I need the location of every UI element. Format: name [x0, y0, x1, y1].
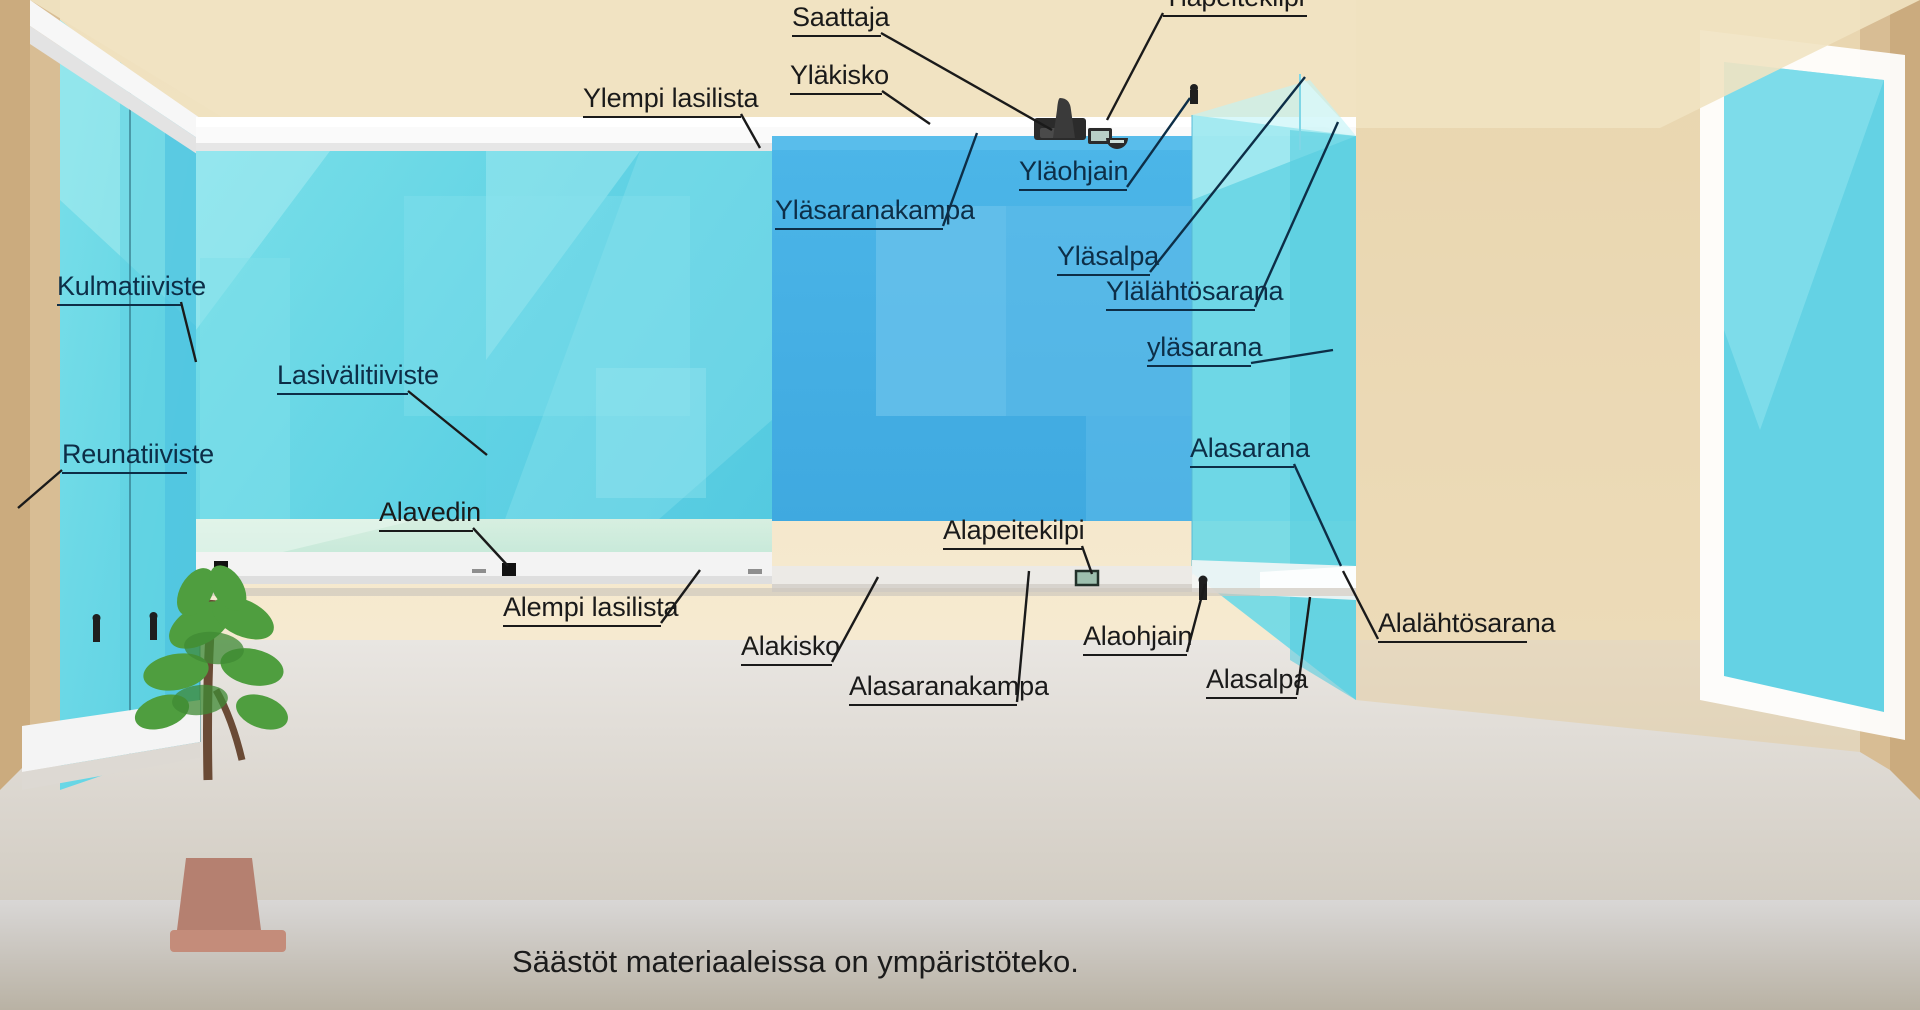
leader-alalahtosarana — [1343, 571, 1378, 639]
label-alapeitekilpi: Alapeitekilpi — [943, 517, 1084, 550]
label-alakisko: Alakisko — [741, 633, 840, 666]
label-lasivalitiiviste: Lasivälitiiviste — [277, 362, 439, 395]
label-alasarana: Alasarana — [1190, 435, 1310, 468]
label-ylasaranakampa: Yläsaranakampa — [775, 197, 975, 230]
label-ylasalpa: Yläsalpa — [1057, 243, 1159, 276]
leader-lines — [0, 0, 1920, 1010]
label-saattaja: Saattaja — [792, 4, 889, 37]
label-alaohjain: Alaohjain — [1083, 623, 1192, 656]
label-ylempi-lasilista: Ylempi lasilista — [583, 85, 758, 118]
leader-ylaohjain — [1127, 98, 1190, 187]
leader-ylakisko — [882, 91, 930, 124]
label-ylalahtosarana: Ylälähtösarana — [1106, 278, 1283, 311]
label-alasaranakampa: Alasaranakampa — [849, 673, 1049, 706]
caption-text: Säästöt materiaaleissa on ympäristöteko. — [512, 944, 1079, 980]
label-alasalpa: Alasalpa — [1206, 666, 1308, 699]
leader-ylempi-lasilista — [741, 114, 760, 148]
leader-lasivalitiiviste — [408, 391, 487, 455]
label-reunatiiviste: Reunatiiviste — [62, 441, 214, 474]
label-alalahtosarana: Alalähtösarana — [1378, 610, 1555, 643]
leader-ylasalpa — [1150, 77, 1305, 272]
label-ylaohjain: Yläohjain — [1019, 158, 1128, 191]
leader-kulmatiiviste — [181, 302, 196, 362]
leader-alavedin — [473, 528, 508, 566]
leader-alapeitekilpi — [1082, 546, 1092, 574]
label-ylasarana: yläsarana — [1147, 334, 1262, 367]
leader-saattaja — [881, 33, 1052, 130]
label-alempi-lasilista: Alempi lasilista — [503, 594, 678, 627]
label-ylakisko: Yläkisko — [790, 62, 889, 95]
leader-reunatiiviste — [18, 470, 62, 508]
diagram-canvas: Kulmatiiviste Reunatiiviste Lasivälitiiv… — [0, 0, 1920, 1010]
label-alavedin: Alavedin — [379, 499, 481, 532]
leader-ylasarana — [1251, 350, 1333, 363]
label-kulmatiiviste: Kulmatiiviste — [57, 273, 206, 306]
leader-alasarana — [1294, 464, 1341, 566]
leader-ylapeitekilpi — [1107, 13, 1163, 120]
label-ylapeitekilpi: Yläpeitekilpi — [1163, 0, 1307, 17]
